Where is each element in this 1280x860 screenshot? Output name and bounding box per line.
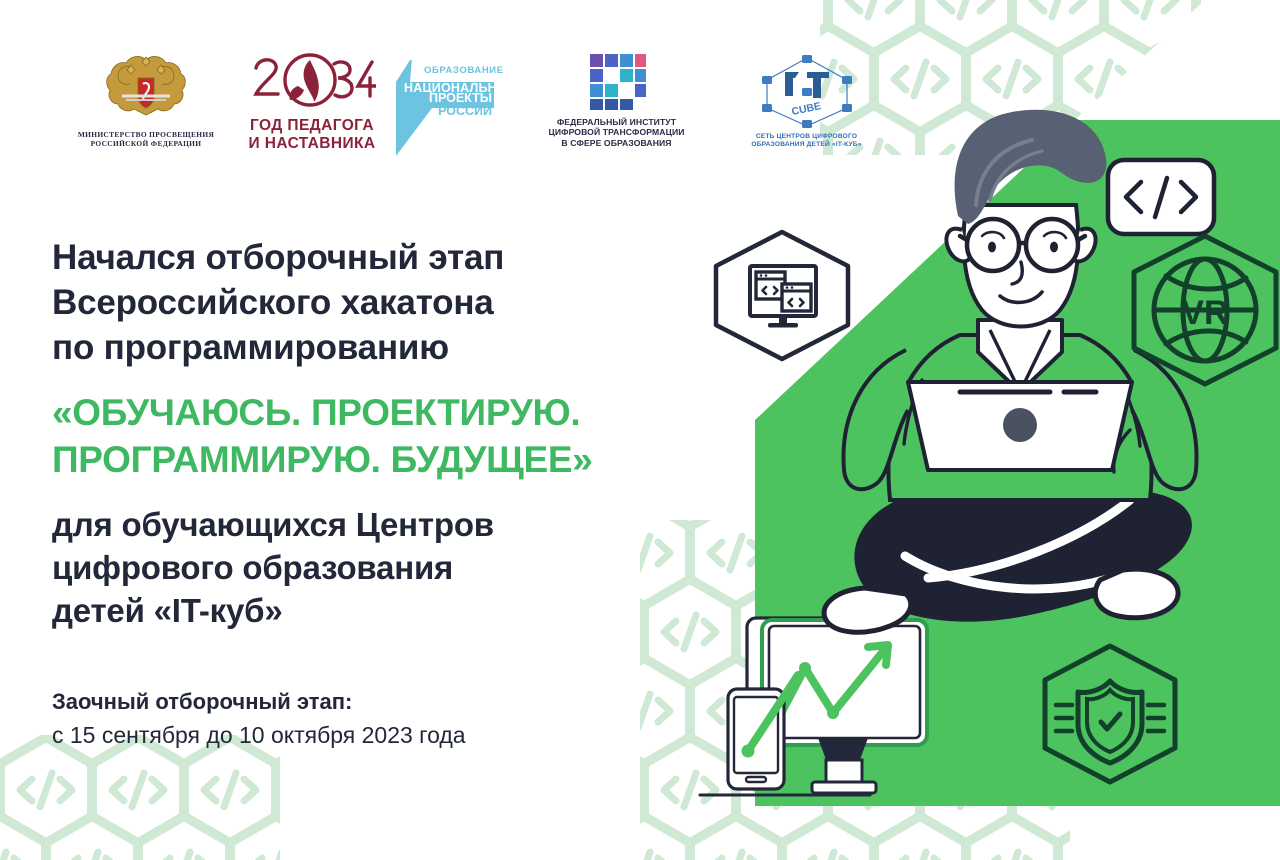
logo-ministry-caption: МИНИСТЕРСТВО ПРОСВЕЩЕНИЯ РОССИЙСКОЙ ФЕДЕ… xyxy=(78,130,214,148)
svg-text:ОБРАЗОВАНИЕ: ОБРАЗОВАНИЕ xyxy=(424,65,504,76)
logo-bar: МИНИСТЕРСТВО ПРОСВЕЩЕНИЯ РОССИЙСКОЙ ФЕДЕ… xyxy=(60,52,1280,172)
russian-coat-of-arms-icon xyxy=(104,52,188,124)
audience-line-1: для обучающихся Центров xyxy=(52,504,772,547)
audience-line-3: детей «IT-куб» xyxy=(52,590,772,633)
svg-text:ПРОЕКТЫ: ПРОЕКТЫ xyxy=(429,91,492,105)
dates-value: с 15 сентября до 10 октября 2023 года xyxy=(52,719,772,751)
hackathon-title-line-1: «ОБУЧАЮСЬ. ПРОЕКТИРУЮ. xyxy=(52,390,772,437)
security-hexagon-badge xyxy=(1045,646,1175,782)
svg-text:CUBE: CUBE xyxy=(790,100,822,118)
dates-block: Заочный отборочный этап: с 15 сентября д… xyxy=(52,687,772,751)
hackathon-title-line-2: ПРОГРАММИРУЮ. БУДУЩЕЕ» xyxy=(52,437,772,484)
logo-year-of-teacher: ГОД ПЕДАГОГА И НАСТАВНИКА xyxy=(242,52,382,153)
year-of-teacher-emblem-icon xyxy=(248,52,376,114)
logo-it-cube-caption: СЕТЬ ЦЕНТРОВ ЦИФРОВОГО ОБРАЗОВАНИЯ ДЕТЕЙ… xyxy=(751,133,861,149)
audience-subhead: для обучающихся Центров цифрового образо… xyxy=(52,504,772,633)
vr-globe-icon: VR xyxy=(1154,259,1256,361)
audience-line-2: цифрового образования xyxy=(52,547,772,590)
headline-line-2: Всероссийского хакатона xyxy=(52,281,772,326)
dates-label: Заочный отборочный этап: xyxy=(52,687,772,717)
laptop xyxy=(908,382,1132,470)
content-block: Начался отборочный этап Всероссийского х… xyxy=(52,236,772,751)
headline-line-3: по программированию xyxy=(52,326,772,371)
headline-line-1: Начался отборочный этап xyxy=(52,236,772,281)
headline: Начался отборочный этап Всероссийского х… xyxy=(52,236,772,370)
national-projects-banner-icon: ОБРАЗОВАНИЕ НАЦИОНАЛЬНЫЕ ПРОЕКТЫ РОССИИ xyxy=(396,52,514,156)
logo-federal-institute: ФЕДЕРАЛЬНЫЙ ИНСТИТУТ ЦИФРОВОЙ ТРАНСФОРМА… xyxy=(529,52,704,148)
svg-text:РОССИИ: РОССИИ xyxy=(438,104,492,118)
hackathon-title: «ОБУЧАЮСЬ. ПРОЕКТИРУЮ. ПРОГРАММИРУЮ. БУД… xyxy=(52,390,772,484)
logo-it-cube: CUBE СЕТЬ ЦЕНТРОВ ЦИФРОВОГО ОБРАЗОВАНИЯ … xyxy=(714,52,899,149)
shield-check-icon xyxy=(1056,681,1164,763)
person-torso xyxy=(844,320,1197,500)
logo-national-projects: ОБРАЗОВАНИЕ НАЦИОНАЛЬНЫЕ ПРОЕКТЫ РОССИИ xyxy=(396,52,521,156)
it-cube-logo-icon: CUBE xyxy=(755,52,859,130)
fi-digital-pixel-icon xyxy=(586,52,648,110)
vr-hexagon-badge: VR xyxy=(1134,236,1276,384)
svg-text:VR: VR xyxy=(1181,294,1228,332)
logo-year-caption: ГОД ПЕДАГОГА И НАСТАВНИКА xyxy=(249,117,376,153)
logo-federal-institute-caption: ФЕДЕРАЛЬНЫЙ ИНСТИТУТ ЦИФРОВОЙ ТРАНСФОРМА… xyxy=(548,117,684,148)
logo-ministry-of-education: МИНИСТЕРСТВО ПРОСВЕЩЕНИЯ РОССИЙСКОЙ ФЕДЕ… xyxy=(60,52,232,148)
poster-root: VR xyxy=(0,0,1280,860)
person-legs xyxy=(824,490,1192,632)
